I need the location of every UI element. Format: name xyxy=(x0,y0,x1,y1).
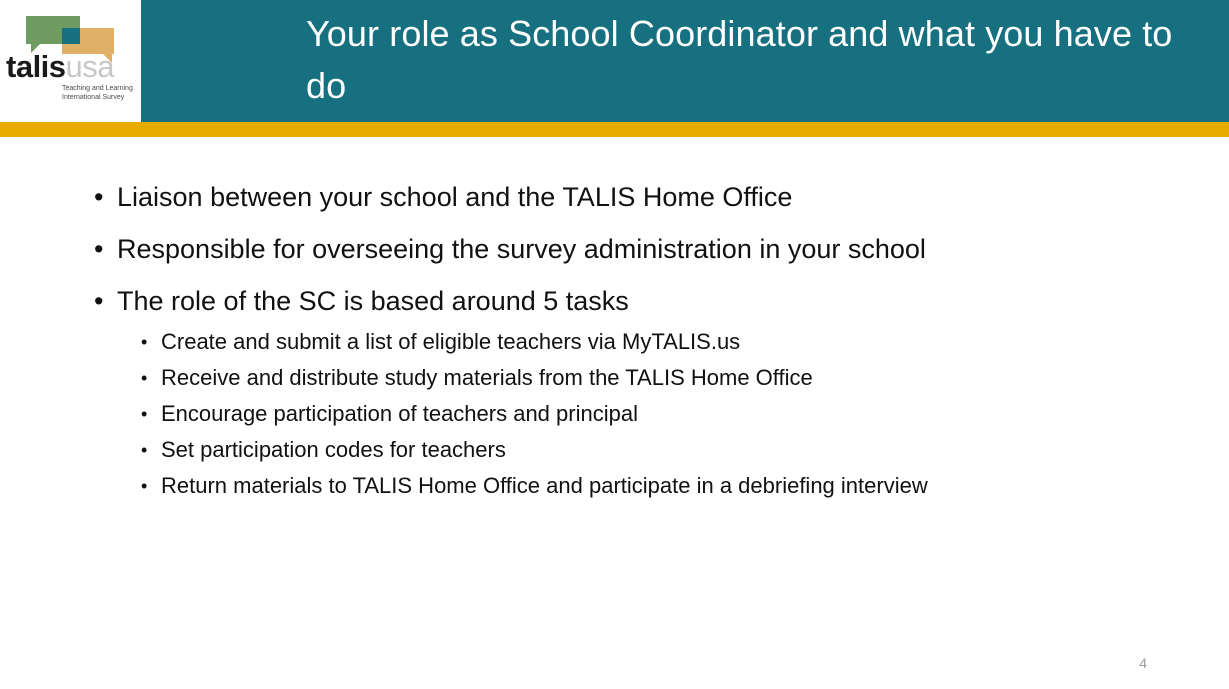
sub-bullet-item: • Set participation codes for teachers xyxy=(139,435,1089,465)
bullet-item: • Liaison between your school and the TA… xyxy=(92,179,1162,215)
sub-bullet-text: Receive and distribute study materials f… xyxy=(161,363,1089,393)
bullet-item: • Responsible for overseeing the survey … xyxy=(92,231,1162,267)
sub-bullet-text: Encourage participation of teachers and … xyxy=(161,399,1089,429)
sub-bullet-text: Create and submit a list of eligible tea… xyxy=(161,327,1089,357)
bullet-list-level2: • Create and submit a list of eligible t… xyxy=(139,327,1089,501)
sub-bullet-marker-icon: • xyxy=(141,471,147,501)
sub-bullet-item: • Receive and distribute study materials… xyxy=(139,363,1089,393)
sub-bullet-marker-icon: • xyxy=(141,399,147,429)
sub-bullet-item: • Return materials to TALIS Home Office … xyxy=(139,471,1089,501)
page-number: 4 xyxy=(1139,655,1147,671)
sub-bullet-marker-icon: • xyxy=(141,363,147,393)
sub-bullet-marker-icon: • xyxy=(141,435,147,465)
speech-bubble-overlap-icon xyxy=(62,28,80,44)
bullet-marker-icon: • xyxy=(94,179,103,215)
sub-bullet-marker-icon: • xyxy=(141,327,147,357)
gold-divider xyxy=(0,122,1229,137)
page-title: Your role as School Coordinator and what… xyxy=(306,8,1206,112)
bullet-text: The role of the SC is based around 5 tas… xyxy=(117,283,1162,319)
logo-block: talisusa Teaching and Learning Internati… xyxy=(0,0,141,122)
bullet-text: Liaison between your school and the TALI… xyxy=(117,179,1162,215)
logo-wordmark: talisusa xyxy=(6,52,141,82)
bullet-text: Responsible for overseeing the survey ad… xyxy=(117,231,1162,267)
sub-bullet-text: Set participation codes for teachers xyxy=(161,435,1089,465)
slide-header: Your role as School Coordinator and what… xyxy=(0,0,1229,122)
logo-tagline-line2: International Survey xyxy=(62,94,140,103)
logo-tagline: Teaching and Learning International Surv… xyxy=(62,85,140,102)
bullet-list-level1: • Liaison between your school and the TA… xyxy=(92,179,1162,517)
sub-bullet-text: Return materials to TALIS Home Office an… xyxy=(161,471,1089,501)
header-teal-band: Your role as School Coordinator and what… xyxy=(141,0,1229,122)
slide-body: • Liaison between your school and the TA… xyxy=(0,137,1229,689)
sub-bullet-item: • Create and submit a list of eligible t… xyxy=(139,327,1089,357)
logo-wordmark-usa: usa xyxy=(66,49,114,84)
bullet-item: • The role of the SC is based around 5 t… xyxy=(92,283,1162,501)
bullet-marker-icon: • xyxy=(94,231,103,267)
presentation-slide: Your role as School Coordinator and what… xyxy=(0,0,1229,689)
logo-wordmark-talis: talis xyxy=(6,49,66,84)
sub-bullet-item: • Encourage participation of teachers an… xyxy=(139,399,1089,429)
bullet-marker-icon: • xyxy=(94,283,103,319)
logo-tagline-line1: Teaching and Learning xyxy=(62,85,140,94)
